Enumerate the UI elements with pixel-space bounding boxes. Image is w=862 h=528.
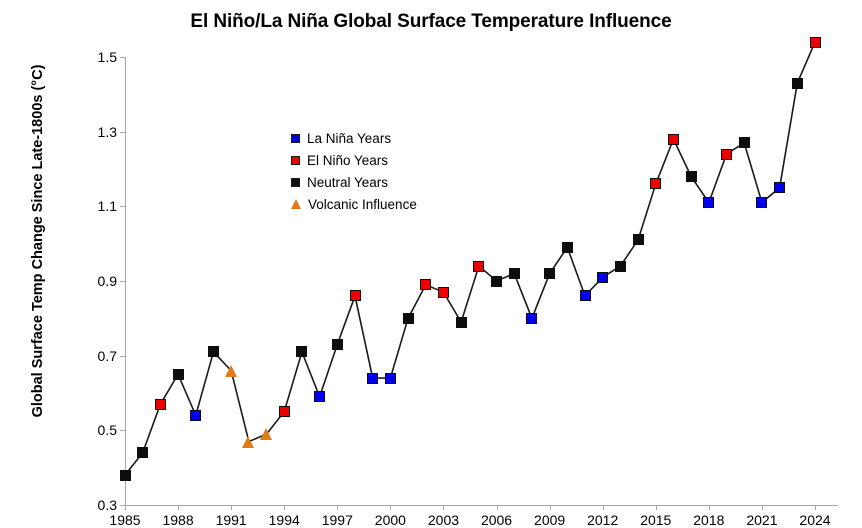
data-point-neutral bbox=[491, 276, 502, 287]
x-tick-label: 2021 bbox=[732, 513, 792, 527]
y-tick-label: 1.5 bbox=[77, 50, 117, 64]
y-tick-label: 1.1 bbox=[77, 199, 117, 213]
y-tick-label: 0.7 bbox=[77, 349, 117, 363]
x-tick-label: 2009 bbox=[520, 513, 580, 527]
data-point-lanina bbox=[703, 197, 714, 208]
data-point-elnino bbox=[668, 134, 679, 145]
data-point-neutral bbox=[792, 78, 803, 89]
data-point-elnino bbox=[279, 406, 290, 417]
legend-triangle-icon bbox=[291, 199, 301, 209]
data-point-elnino bbox=[721, 149, 732, 160]
data-point-elnino bbox=[473, 261, 484, 272]
x-tick-label: 2015 bbox=[626, 513, 686, 527]
data-point-neutral bbox=[173, 369, 184, 380]
data-point-lanina bbox=[526, 313, 537, 324]
data-point-neutral bbox=[332, 339, 343, 350]
legend-item-volcanic[interactable]: Volcanic Influence bbox=[291, 193, 417, 215]
data-point-lanina bbox=[580, 290, 591, 301]
data-point-elnino bbox=[155, 399, 166, 410]
data-point-lanina bbox=[756, 197, 767, 208]
y-tick-label: 0.3 bbox=[77, 498, 117, 512]
data-point-neutral bbox=[120, 470, 131, 481]
x-tick-label: 2003 bbox=[413, 513, 473, 527]
data-point-lanina bbox=[597, 272, 608, 283]
data-point-lanina bbox=[385, 373, 396, 384]
data-point-neutral bbox=[633, 234, 644, 245]
data-point-neutral bbox=[739, 137, 750, 148]
data-point-lanina bbox=[774, 182, 785, 193]
data-point-volcanic bbox=[242, 436, 254, 448]
legend-square-icon bbox=[291, 134, 300, 143]
data-point-neutral bbox=[686, 171, 697, 182]
x-tick-label: 2018 bbox=[679, 513, 739, 527]
data-point-lanina bbox=[367, 373, 378, 384]
series-polyline bbox=[125, 35, 838, 515]
data-point-volcanic bbox=[225, 365, 237, 377]
legend-item-label: Volcanic Influence bbox=[308, 197, 417, 212]
legend-square-icon bbox=[291, 156, 300, 165]
data-point-elnino bbox=[438, 287, 449, 298]
y-tick-label: 0.9 bbox=[77, 274, 117, 288]
legend-item-label: La Niña Years bbox=[307, 131, 391, 146]
x-tick-label: 1994 bbox=[254, 513, 314, 527]
data-point-neutral bbox=[544, 268, 555, 279]
x-tick-label: 2012 bbox=[573, 513, 633, 527]
data-point-neutral bbox=[615, 261, 626, 272]
data-point-elnino bbox=[420, 279, 431, 290]
data-point-elnino bbox=[810, 37, 821, 48]
data-point-neutral bbox=[137, 447, 148, 458]
legend-square-icon bbox=[291, 178, 300, 187]
x-tick-label: 1991 bbox=[201, 513, 261, 527]
x-tick-label: 1988 bbox=[148, 513, 208, 527]
y-tick-label: 1.3 bbox=[77, 125, 117, 139]
data-point-neutral bbox=[403, 313, 414, 324]
data-point-volcanic bbox=[260, 428, 272, 440]
x-tick-label: 2024 bbox=[785, 513, 845, 527]
data-point-lanina bbox=[190, 410, 201, 421]
x-tick-label: 1997 bbox=[307, 513, 367, 527]
chart-legend: La Niña YearsEl Niño YearsNeutral YearsV… bbox=[291, 127, 417, 215]
chart-title: El Niño/La Niña Global Surface Temperatu… bbox=[0, 11, 862, 33]
data-point-lanina bbox=[314, 391, 325, 402]
legend-item-label: El Niño Years bbox=[307, 153, 388, 168]
data-point-neutral bbox=[562, 242, 573, 253]
data-point-neutral bbox=[296, 346, 307, 357]
legend-item-elnino[interactable]: El Niño Years bbox=[291, 149, 417, 171]
x-tick-label: 2006 bbox=[467, 513, 527, 527]
chart-container: El Niño/La Niña Global Surface Temperatu… bbox=[0, 0, 862, 522]
data-point-elnino bbox=[350, 290, 361, 301]
legend-item-neutral[interactable]: Neutral Years bbox=[291, 171, 417, 193]
data-point-elnino bbox=[650, 178, 661, 189]
data-point-neutral bbox=[509, 268, 520, 279]
y-axis-label: Global Surface Temp Change Since Late-18… bbox=[30, 31, 46, 451]
plot-area: 1.51.31.10.90.70.50.3 198519881991199419… bbox=[125, 35, 838, 485]
legend-item-label: Neutral Years bbox=[307, 175, 388, 190]
legend-item-lanina[interactable]: La Niña Years bbox=[291, 127, 417, 149]
y-tick-label: 0.5 bbox=[77, 423, 117, 437]
data-point-neutral bbox=[208, 346, 219, 357]
x-tick-label: 2000 bbox=[360, 513, 420, 527]
x-tick-label: 1985 bbox=[95, 513, 155, 527]
data-point-neutral bbox=[456, 317, 467, 328]
